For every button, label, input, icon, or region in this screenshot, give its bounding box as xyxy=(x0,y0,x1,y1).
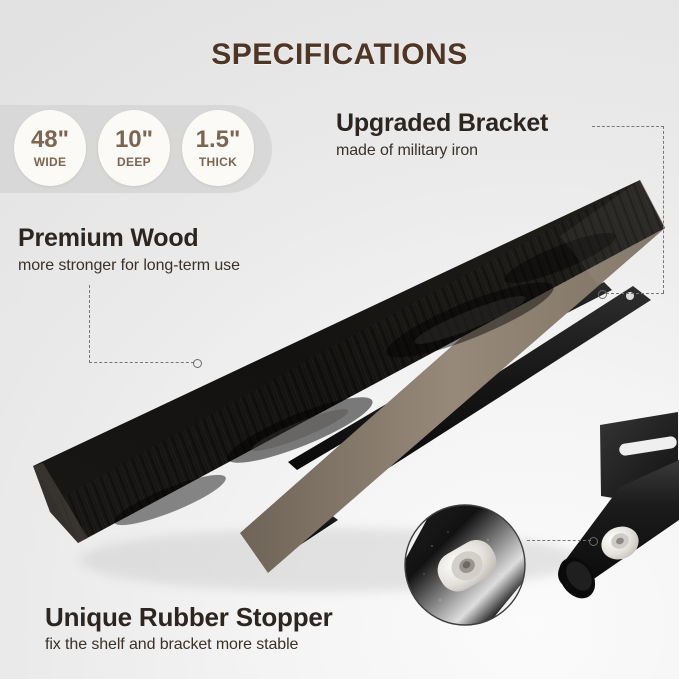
callout-subtext: more stronger for long-term use xyxy=(18,257,240,275)
leader-dot-bracket xyxy=(598,290,607,299)
spec-badge-width: 48" WIDE xyxy=(14,110,86,186)
leader-line-stopper xyxy=(527,540,591,541)
leader-line-wood-horizontal xyxy=(89,362,194,363)
spec-unit: THICK xyxy=(199,155,237,169)
callout-heading: Premium Wood xyxy=(18,225,240,253)
callout-subtext: made of military iron xyxy=(336,142,548,160)
callout-premium-wood: Premium Wood more stronger for long-term… xyxy=(18,225,240,275)
leader-line-bracket-tail xyxy=(606,293,664,294)
spec-value: 48" xyxy=(31,128,69,152)
spec-badge-depth: 10" DEEP xyxy=(98,110,170,186)
leader-dot-wood xyxy=(193,359,202,368)
product-illustration xyxy=(0,0,679,679)
spec-badges: 48" WIDE 10" DEEP 1.5" THICK xyxy=(14,110,254,186)
spec-unit: WIDE xyxy=(34,155,67,169)
callout-subtext: fix the shelf and bracket more stable xyxy=(45,636,333,654)
leader-line-wood-vertical xyxy=(89,285,90,363)
spec-value: 1.5" xyxy=(196,128,241,152)
leader-line-bracket-vertical xyxy=(663,126,664,293)
spec-badge-thickness: 1.5" THICK xyxy=(182,110,254,186)
leader-dot-stopper xyxy=(589,537,598,546)
callout-upgraded-bracket: Upgraded Bracket made of military iron xyxy=(336,110,548,160)
specification-infographic: SPECIFICATIONS xyxy=(0,0,679,679)
spec-unit: DEEP xyxy=(117,155,151,169)
bracket-detail xyxy=(551,412,679,605)
leader-line-bracket-horizontal xyxy=(592,126,664,127)
callout-heading: Upgraded Bracket xyxy=(336,110,548,138)
callout-heading: Unique Rubber Stopper xyxy=(45,603,333,632)
callout-unique-rubber-stopper: Unique Rubber Stopper fix the shelf and … xyxy=(45,603,333,654)
spec-value: 10" xyxy=(115,128,153,152)
